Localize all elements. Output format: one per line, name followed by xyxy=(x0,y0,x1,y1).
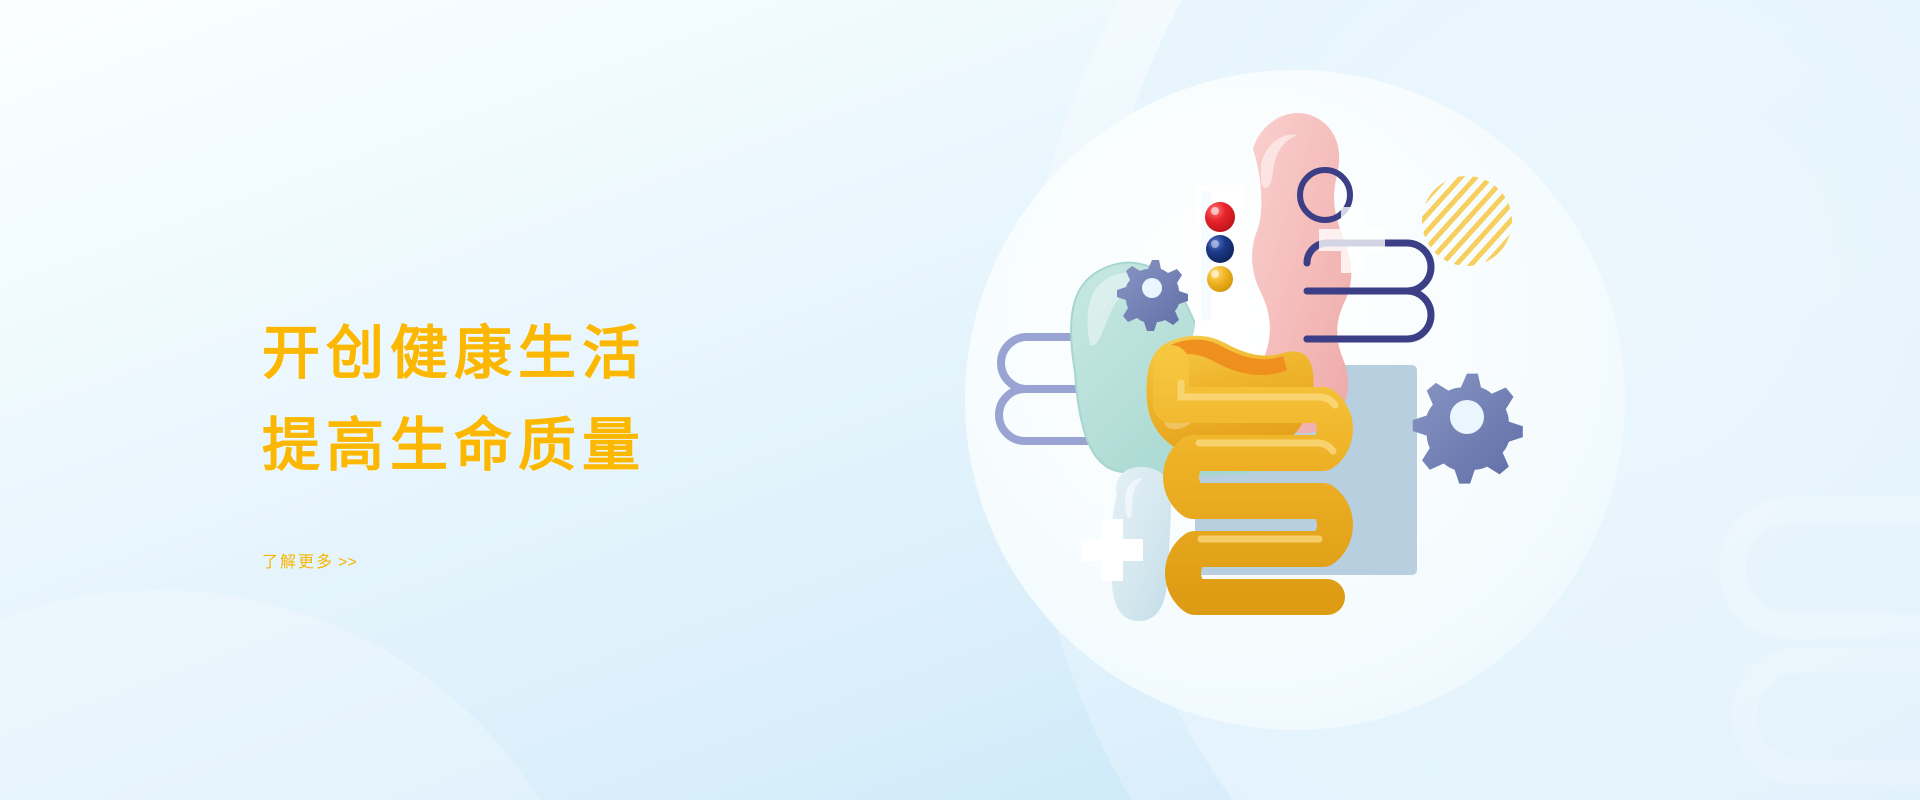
gear-icon-small xyxy=(1117,260,1188,331)
learn-more-label: 了解更多 xyxy=(262,554,334,571)
health-hero-banner: 开创健康生活 提高生命质量 了解更多>> xyxy=(0,0,1920,800)
learn-more-link[interactable]: 了解更多>> xyxy=(262,548,357,572)
illustration-artwork xyxy=(955,45,1615,755)
test-tube-ball-yellow xyxy=(1207,266,1233,292)
test-tube-ball-red xyxy=(1205,202,1235,232)
background-circle-bottom-left xyxy=(0,590,610,800)
ball-red-glint xyxy=(1211,207,1219,215)
headline-line-2: 提高生命质量 xyxy=(262,402,882,490)
ball-blue-glint xyxy=(1211,240,1219,248)
digestive-system-illustration xyxy=(955,45,1615,755)
test-tube-ball-blue xyxy=(1206,235,1234,263)
headline-line-1: 开创健康生活 xyxy=(262,310,882,398)
chevron-right-icon: >> xyxy=(338,554,357,571)
gear-icon-large xyxy=(1413,374,1523,484)
hero-copy: 开创健康生活 提高生命质量 了解更多>> xyxy=(262,310,882,572)
ball-yellow-glint xyxy=(1211,270,1219,278)
